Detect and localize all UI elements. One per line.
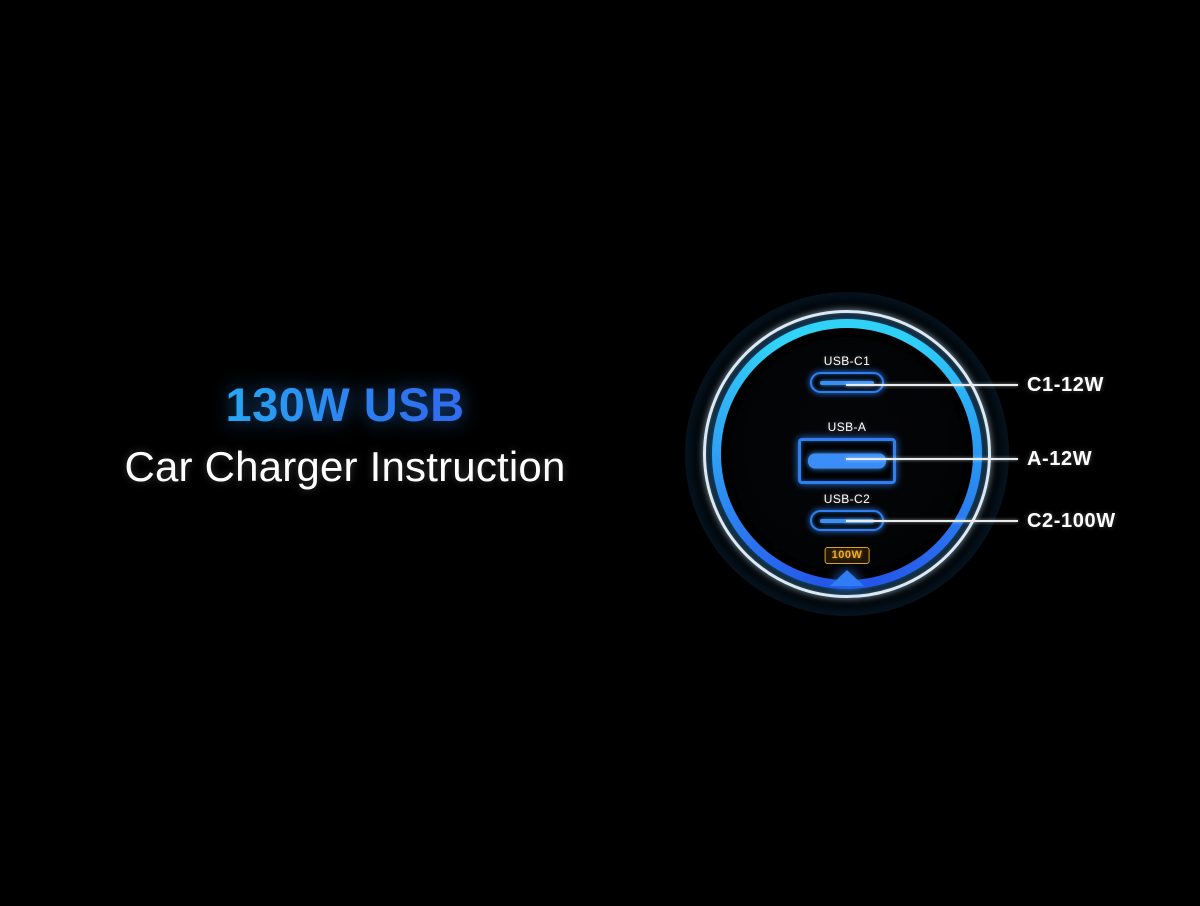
orientation-triangle-icon — [830, 570, 864, 586]
leader-line-a — [846, 458, 1018, 460]
title-block: 130W USB Car Charger Instruction — [0, 380, 690, 491]
slide-canvas: 130W USB Car Charger Instruction USB-C1 … — [0, 0, 1200, 906]
port-group-usb-a: USB-A — [703, 420, 991, 489]
page-subtitle: Car Charger Instruction — [0, 443, 690, 491]
power-badge-100w: 100W — [825, 547, 870, 564]
car-charger-diagram: USB-C1 USB-A USB-C2 100W — [703, 310, 991, 598]
usb-c1-port[interactable] — [810, 372, 884, 393]
usb-a-port[interactable] — [798, 438, 896, 484]
port-group-usb-c1: USB-C1 — [703, 354, 991, 398]
leader-line-c1 — [846, 384, 1018, 386]
port-label-usb-a: USB-A — [703, 420, 991, 434]
port-group-usb-c2: USB-C2 — [703, 492, 991, 536]
leader-line-c2 — [846, 520, 1018, 522]
port-label-usb-c1: USB-C1 — [703, 354, 991, 368]
page-title: 130W USB — [0, 380, 690, 429]
callout-c2: C2-100W — [1027, 510, 1116, 533]
callout-a: A-12W — [1027, 448, 1092, 471]
port-label-usb-c2: USB-C2 — [703, 492, 991, 506]
callout-c1: C1-12W — [1027, 374, 1104, 397]
